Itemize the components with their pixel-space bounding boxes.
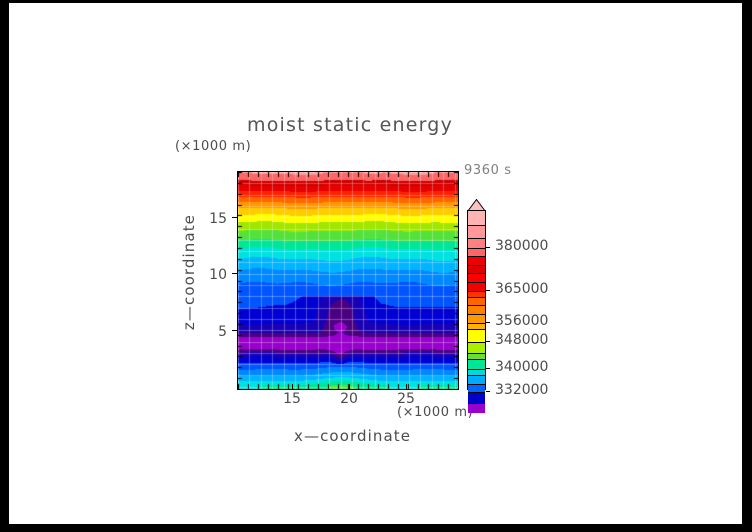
colorbar-body <box>467 210 486 390</box>
colorbar-band <box>468 375 485 384</box>
figure-page: moist static energy (×1000 m) 9360 s (×1… <box>9 3 742 524</box>
colorbar-tick-label: 332000 <box>495 382 548 398</box>
x-axis-tick-label: 20 <box>334 391 364 407</box>
colorbar-band <box>468 359 485 369</box>
colorbar-band <box>468 265 485 273</box>
colorbar-band-divider <box>468 329 485 330</box>
colorbar-band-divider <box>468 369 485 370</box>
colorbar-band <box>468 314 485 323</box>
colorbar-tick <box>486 290 490 291</box>
x-axis-tick <box>292 384 293 389</box>
colorbar-band-divider <box>468 282 485 283</box>
contour-plot <box>237 171 459 390</box>
colorbar-tick <box>486 322 490 323</box>
colorbar-band <box>468 248 485 256</box>
colorbar-band-divider <box>468 353 485 354</box>
colorbar-tick <box>486 341 490 342</box>
colorbar-band-divider <box>468 248 485 249</box>
colorbar-band <box>468 403 485 413</box>
x-axis-tick-label: 25 <box>391 391 421 407</box>
colorbar-band <box>468 329 485 342</box>
x-axis-unit-label: (×1000 m) <box>397 405 473 420</box>
colorbar-band-divider <box>468 384 485 385</box>
colorbar-band-divider <box>468 403 485 404</box>
y-axis-tick-label: 10 <box>197 267 227 283</box>
colorbar-tick-label: 380000 <box>495 238 548 254</box>
colorbar-band <box>468 297 485 305</box>
colorbar-band <box>468 392 485 403</box>
colorbar-tick <box>486 368 490 369</box>
x-axis-tick <box>349 384 350 389</box>
colorbar-band-divider <box>468 265 485 266</box>
colorbar-band-divider <box>468 273 485 274</box>
colorbar-band-divider <box>468 323 485 324</box>
colorbar-band-divider <box>468 342 485 343</box>
image-border: moist static energy (×1000 m) 9360 s (×1… <box>0 0 752 532</box>
colorbar-tick <box>486 247 490 248</box>
colorbar-band <box>468 342 485 353</box>
x-axis-tick-label: 15 <box>277 391 307 407</box>
colorbar-band <box>468 256 485 265</box>
colorbar-tick-label: 365000 <box>495 281 548 297</box>
y-axis-unit-label: (×1000 m) <box>175 139 251 154</box>
colorbar-band-divider <box>468 225 485 226</box>
colorbar-band-divider <box>468 291 485 292</box>
y-axis-title: z—coordinate <box>180 214 198 330</box>
colorbar-band-divider <box>468 392 485 393</box>
colorbar-band-divider <box>468 297 485 298</box>
colorbar-band <box>468 305 485 314</box>
y-axis-tick-label: 5 <box>197 324 227 340</box>
y-axis-tick-label: 15 <box>197 211 227 227</box>
y-axis-tick <box>232 273 237 274</box>
colorbar-tick-label: 348000 <box>495 332 548 348</box>
y-axis-tick <box>232 217 237 218</box>
colorbar-band-divider <box>468 359 485 360</box>
colorbar-band <box>468 211 485 225</box>
colorbar-band <box>468 384 485 392</box>
contour-canvas <box>238 172 458 389</box>
colorbar-tick <box>486 391 490 392</box>
x-axis-tick <box>406 384 407 389</box>
colorbar-band <box>468 273 485 282</box>
colorbar-band <box>468 225 485 238</box>
colorbar-band-divider <box>468 238 485 239</box>
x-axis-title: x—coordinate <box>294 427 411 445</box>
y-axis-tick <box>232 330 237 331</box>
colorbar-band <box>468 282 485 291</box>
colorbar-band-divider <box>468 305 485 306</box>
page-title: moist static energy <box>247 114 453 136</box>
colorbar-tick-label: 356000 <box>495 313 548 329</box>
time-annotation: 9360 s <box>464 163 512 178</box>
colorbar-band-divider <box>468 375 485 376</box>
colorbar-band-divider <box>468 314 485 315</box>
colorbar-tick-label: 340000 <box>495 359 548 375</box>
colorbar-band-divider <box>468 256 485 257</box>
colorbar-band <box>468 238 485 248</box>
